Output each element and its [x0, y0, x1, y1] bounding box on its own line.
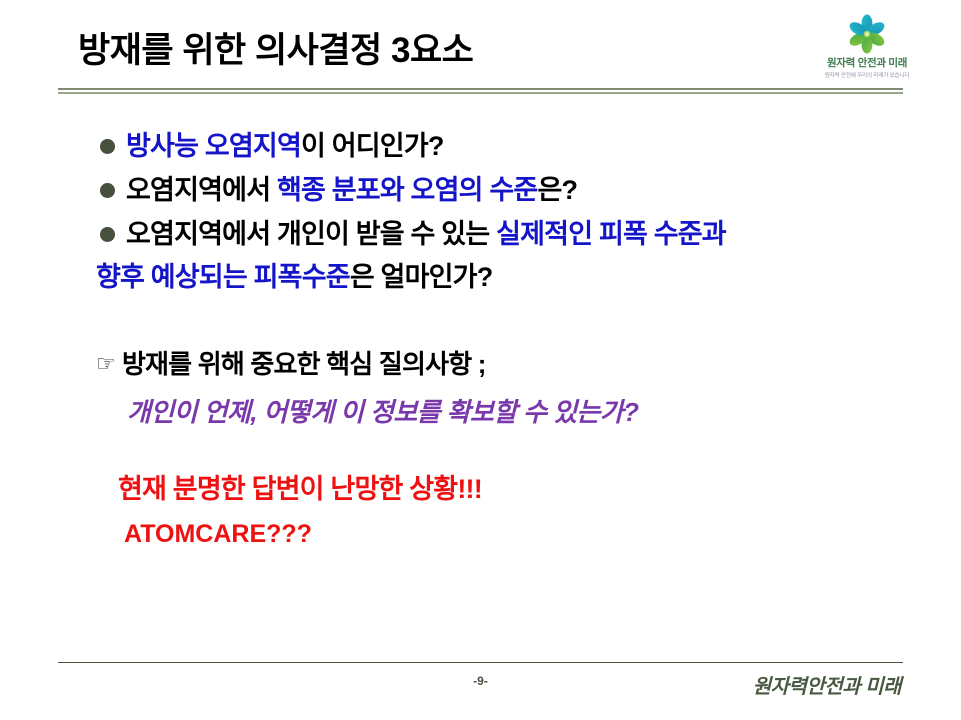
bullet-item-1: 방사능 오염지역이 어디인가? [0, 124, 961, 168]
bullet-2-segment-2: 핵종 분포와 오염의 수준 [277, 175, 538, 205]
bullet-2-segment-3: 은? [537, 175, 577, 205]
title-divider [58, 88, 903, 94]
logo-organization-name: 원자력 안전과 미래 [804, 55, 930, 70]
atomcare-label: ATOMCARE??? [0, 514, 961, 554]
key-question-text: 개인이 언제, 어떻게 이 정보를 확보할 수 있는가? [0, 392, 961, 432]
continuation-segment-1: 향후 예상되는 피폭수준 [96, 262, 350, 292]
bullet-item-3: 오염지역에서 개인이 받을 수 있는 실제적인 피폭 수준과 [0, 212, 961, 256]
bullet-3-segment-2: 실제적인 피폭 수준과 [496, 219, 726, 249]
flower-logo-icon [845, 14, 889, 54]
bullet-item-2-text: 오염지역에서 핵종 분포와 오염의 수준은? [126, 168, 577, 212]
title-divider-bottom-bar [58, 92, 903, 94]
bullet-1-segment-2: 이 어디인가? [301, 131, 444, 161]
continuation-segment-2: 은 얼마인가? [350, 262, 493, 292]
status-statement: 현재 분명한 답변이 난망한 상황!!! [0, 468, 961, 510]
bullet-2-segment-1: 오염지역에서 [126, 175, 277, 205]
key-question-heading-text: 방재를 위해 중요한 핵심 질의사항 ; [122, 349, 486, 379]
bullet-circle-icon [100, 139, 115, 154]
footer-divider [58, 662, 903, 663]
logo-tagline: 원자력 안전에 우리의 미래가 있습니다 [804, 71, 930, 79]
content-spacer [0, 298, 961, 344]
page-title: 방재를 위한 의사결정 3요소 [78, 22, 473, 73]
footer-brand: 원자력안전과 미래 [753, 670, 901, 699]
bullet-item-3-continuation: 향후 예상되는 피폭수준은 얼마인가? [0, 256, 961, 298]
bullet-item-2: 오염지역에서 핵종 분포와 오염의 수준은? [0, 168, 961, 212]
bullet-circle-icon [100, 183, 115, 198]
bullet-1-segment-1: 방사능 오염지역 [126, 131, 301, 161]
slide-body: 방사능 오염지역이 어디인가? 오염지역에서 핵종 분포와 오염의 수준은? 오… [0, 124, 961, 554]
organization-logo: 원자력 안전과 미래 원자력 안전에 우리의 미래가 있습니다 [804, 14, 930, 88]
bullet-circle-icon [100, 227, 115, 242]
slide-canvas: 방재를 위한 의사결정 3요소 [0, 0, 961, 720]
content-spacer [0, 432, 961, 468]
bullet-item-1-text: 방사능 오염지역이 어디인가? [126, 124, 444, 168]
key-question-heading: ☞방재를 위해 중요한 핵심 질의사항 ; [0, 344, 961, 384]
bullet-3-segment-1: 오염지역에서 개인이 받을 수 있는 [126, 219, 496, 249]
pointing-hand-icon: ☞ [96, 353, 115, 375]
bullet-item-3-text: 오염지역에서 개인이 받을 수 있는 실제적인 피폭 수준과 [126, 212, 726, 256]
